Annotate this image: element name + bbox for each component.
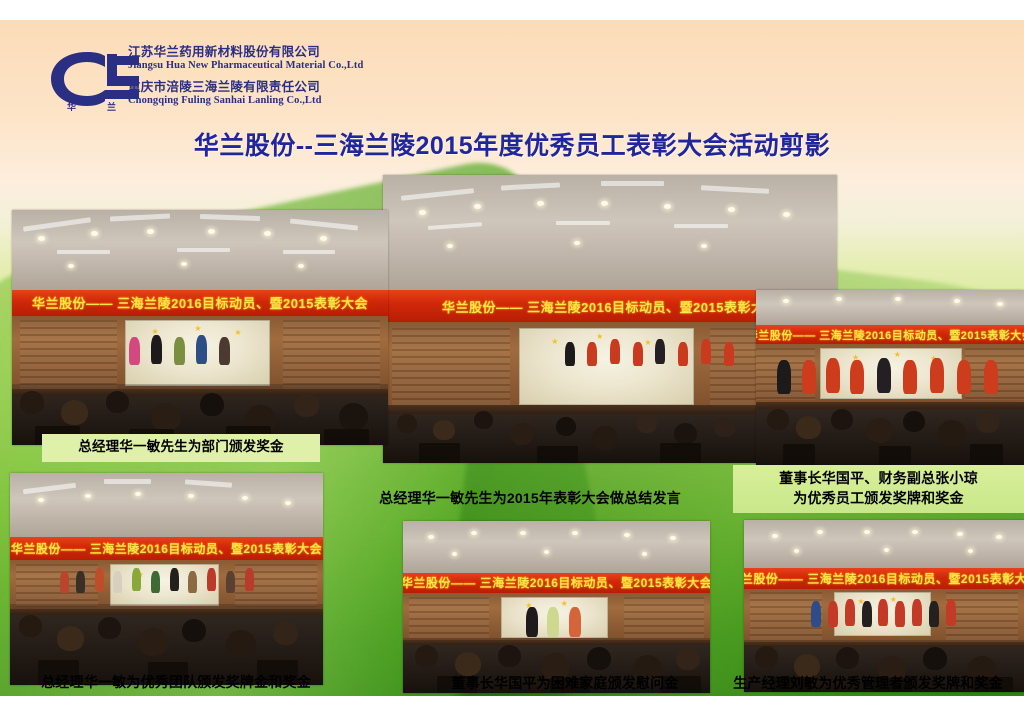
company-2-english-name: Chongqing Fuling Sanhai Lanling Co.,Ltd xyxy=(128,94,428,107)
hall-banner-text: 华兰股份—— 三海兰陵2016目标动员、暨2015表彰大会 xyxy=(10,537,323,560)
photo-chairman-awards-needy-families: 华兰股份—— 三海兰陵2016目标动员、暨2015表彰大会 ★ ★ xyxy=(403,521,710,693)
hall-banner-text: 华兰股份—— 三海兰陵2016目标动员、暨2015表彰大会 xyxy=(403,573,710,594)
caption-chairman-and-cfo-line2: 为优秀员工颁发奖牌和奖金 xyxy=(733,490,1024,508)
slide-header: 华 兰 江苏华兰药用新材料股份有限公司 Jiangsu Hua New Phar… xyxy=(0,20,1024,110)
company-name-2: 重庆市涪陵三海兰陵有限责任公司 Chongqing Fuling Sanhai … xyxy=(128,80,428,107)
caption-chairman-and-cfo-line1: 董事长华国平、财务副总张小琼 xyxy=(733,470,1024,488)
company-1-chinese-name: 江苏华兰药用新材料股份有限公司 xyxy=(128,45,428,59)
svg-text:华: 华 xyxy=(67,101,76,112)
photo-general-manager-awards-team: 华兰股份—— 三海兰陵2016目标动员、暨2015表彰大会 ★ ★ xyxy=(10,473,323,685)
hall-banner-text: 华兰股份—— 三海兰陵2016目标动员、暨2015表彰大会 xyxy=(744,568,1024,589)
caption-general-manager-awards-team: 总经理华一敏为优秀团队颁发奖牌金和奖金 xyxy=(6,674,346,692)
company-logo-icon: 华 兰 xyxy=(45,46,141,112)
page-title: 华兰股份--三海兰陵2015年度优秀员工表彰大会活动剪影 xyxy=(0,126,1024,162)
caption-production-manager-awards-managers: 生产经理刘敏为优秀管理者颁发奖牌和奖金 xyxy=(706,675,1024,693)
company-2-chinese-name: 重庆市涪陵三海兰陵有限责任公司 xyxy=(128,80,428,94)
hall-banner-text: 华兰股份—— 三海兰陵2016目标动员、暨2015表彰大会 xyxy=(12,290,388,316)
photo-general-manager-awards-department: 华兰股份—— 三海兰陵2016目标动员、暨2015表彰大会 ★ ★ ★ xyxy=(12,210,388,445)
svg-text:兰: 兰 xyxy=(107,101,116,112)
photo-production-manager-awards-managers: 华兰股份—— 三海兰陵2016目标动员、暨2015表彰大会 ★ ★ xyxy=(744,520,1024,692)
photo-chairman-and-cfo-award-employees: 华兰股份—— 三海兰陵2016目标动员、暨2015表彰大会 ★ ★ ★ xyxy=(756,290,1024,465)
hall-banner-text: 华兰股份—— 三海兰陵2016目标动员、暨2015表彰大会 xyxy=(756,325,1024,344)
company-name-1: 江苏华兰药用新材料股份有限公司 Jiangsu Hua New Pharmace… xyxy=(128,45,428,72)
company-1-english-name: Jiangsu Hua New Pharmaceutical Material … xyxy=(128,59,428,72)
caption-general-manager-summary-speech: 总经理华一敏先生为2015年表彰大会做总结发言 xyxy=(340,490,720,508)
caption-general-manager-awards-department: 总经理华一敏先生为部门颁发奖金 xyxy=(42,438,320,455)
caption-chairman-awards-needy-families: 董事长华国平为困难家庭颁发慰问金 xyxy=(405,675,725,693)
company-names-block: 江苏华兰药用新材料股份有限公司 Jiangsu Hua New Pharmace… xyxy=(128,45,428,115)
slide-canvas: 华 兰 江苏华兰药用新材料股份有限公司 Jiangsu Hua New Phar… xyxy=(0,20,1024,696)
